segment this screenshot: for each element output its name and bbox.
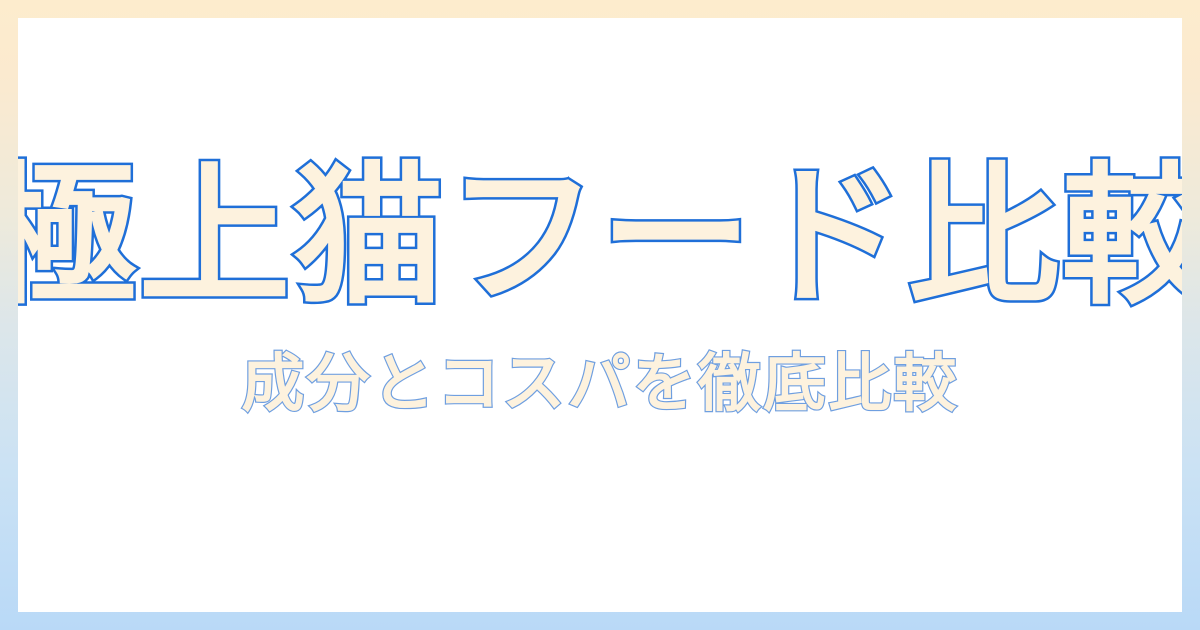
headline-block: 極上猫フード比較 成分とコスパを徹底比較 (18, 156, 1182, 420)
page-subtitle: 成分とコスパを徹底比較 (241, 349, 958, 420)
page-title: 極上猫フード比較 (18, 156, 1182, 317)
poster-card: 極上猫フード比較 成分とコスパを徹底比較 (18, 18, 1182, 612)
poster-frame: 極上猫フード比較 成分とコスパを徹底比較 (0, 0, 1200, 630)
